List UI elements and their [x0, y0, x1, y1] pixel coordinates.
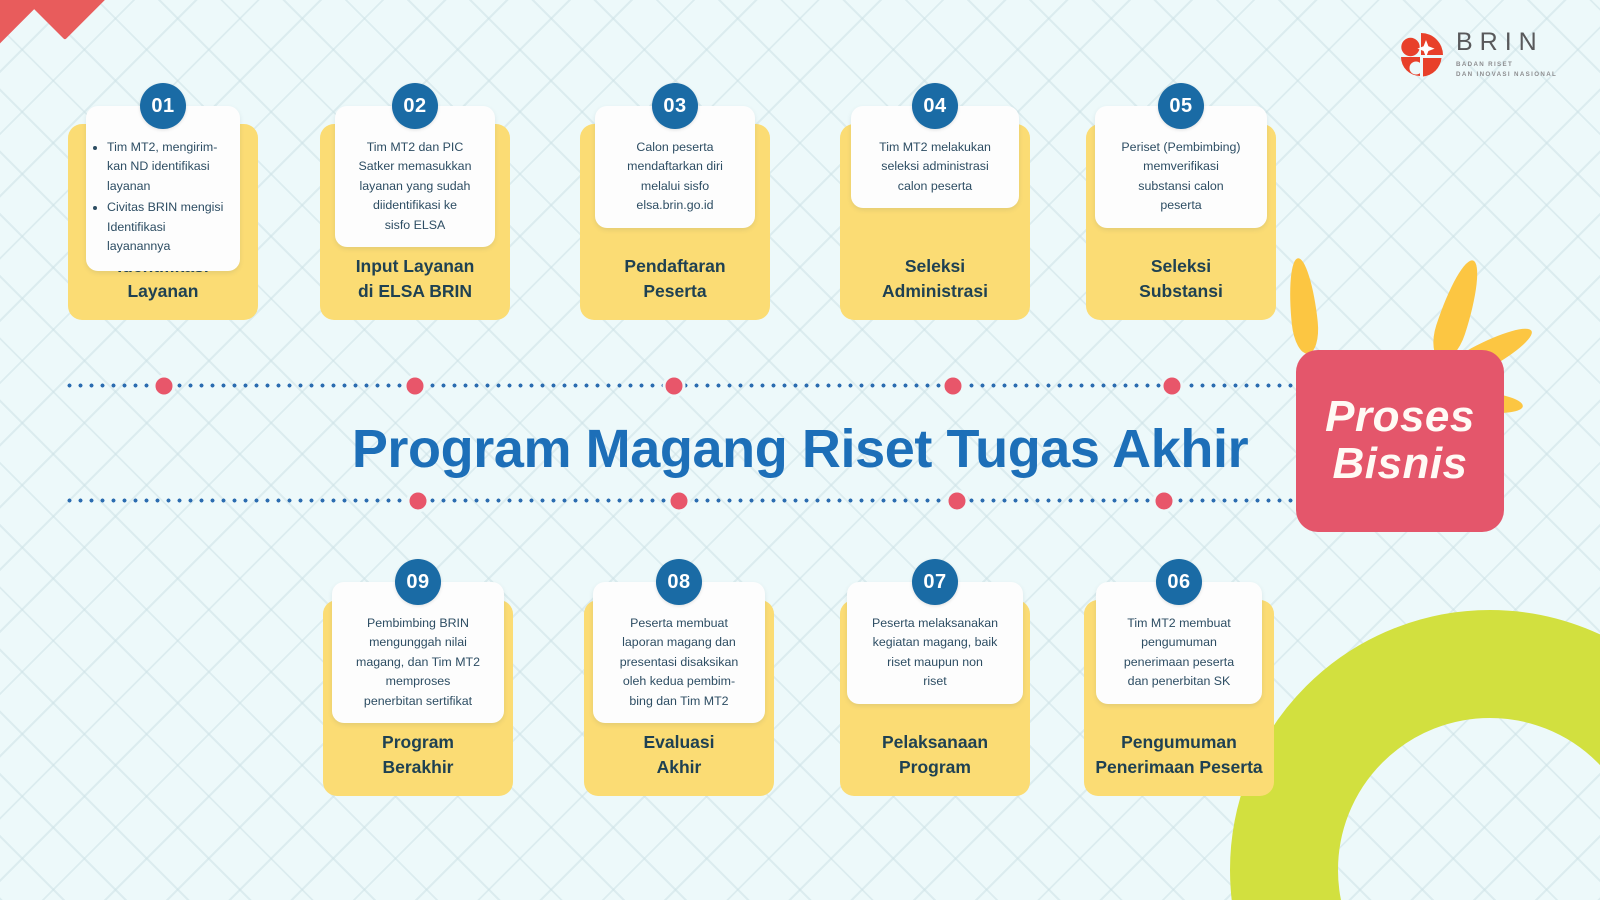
timeline-dot-07: [946, 490, 969, 513]
step-card-04[interactable]: Seleksi Administrasi Tim MT2 melakukan s…: [840, 84, 1030, 320]
step-card-04-label: Seleksi Administrasi: [882, 254, 988, 304]
brin-logo: BRIN BADAN RISET DAN INOVASI NASIONAL: [1398, 30, 1557, 79]
infographic-canvas: BRIN BADAN RISET DAN INOVASI NASIONAL Id…: [0, 0, 1600, 900]
diagonal-stripe-4: [22, 0, 254, 40]
step-card-09-label: Program Berakhir: [382, 730, 454, 780]
list-item: Civitas BRIN mengisi Identifikasi layana…: [107, 198, 230, 256]
step-card-06-label: Pengumuman Penerimaan Peserta: [1095, 730, 1262, 780]
step-card-07-label: Pelaksanaan Program: [882, 730, 988, 780]
step-card-05-body: Periset (Pembimbing) memverifikasi subst…: [1095, 106, 1267, 228]
step-card-02-body: Tim MT2 dan PIC Satker memasukkan layana…: [335, 106, 495, 247]
step-card-09-text: Pembimbing BRIN mengunggah nilai magang,…: [336, 614, 500, 711]
step-card-08-text: Peserta membuat laporan magang dan prese…: [597, 614, 761, 711]
step-card-03[interactable]: Pendaftaran Peserta Calon peserta mendaf…: [580, 84, 770, 320]
step-card-04-body: Tim MT2 melakukan seleksi administrasi c…: [851, 106, 1019, 208]
brin-logo-mark: [1398, 32, 1444, 78]
brin-logo-name: BRIN: [1456, 30, 1557, 55]
timeline-dot-09: [407, 490, 430, 513]
step-card-04-number: 04: [912, 83, 958, 129]
step-card-08-label: Evaluasi Akhir: [643, 730, 714, 780]
step-card-06-text: Tim MT2 membuat pengumuman penerimaan pe…: [1102, 614, 1256, 692]
timeline-dot-05: [1161, 375, 1184, 398]
step-card-05-label: Seleksi Substansi: [1139, 254, 1223, 304]
step-card-06-number: 06: [1156, 559, 1202, 605]
splash-shape-4: [1285, 257, 1321, 355]
step-card-01-number: 01: [140, 83, 186, 129]
step-card-05-text: Periset (Pembimbing) memverifikasi subst…: [1099, 138, 1263, 216]
step-card-02[interactable]: Input Layanan di ELSA BRIN Tim MT2 dan P…: [320, 84, 510, 320]
step-card-07-number: 07: [912, 559, 958, 605]
proses-bisnis-badge: Proses Bisnis: [1296, 350, 1514, 536]
step-card-06-body: Tim MT2 membuat pengumuman penerimaan pe…: [1096, 582, 1262, 704]
list-item: Tim MT2, mengirim- kan ND identifikasi l…: [107, 138, 230, 196]
timeline-dot-03: [663, 375, 686, 398]
brin-logo-text: BRIN BADAN RISET DAN INOVASI NASIONAL: [1456, 30, 1557, 79]
step-card-03-text: Calon peserta mendaftarkan diri melalui …: [603, 138, 747, 216]
brin-logo-subtitle: BADAN RISET DAN INOVASI NASIONAL: [1456, 60, 1557, 79]
proses-bisnis-line2: Bisnis: [1332, 442, 1467, 487]
step-card-09-body: Pembimbing BRIN mengunggah nilai magang,…: [332, 582, 504, 723]
step-card-07-text: Peserta melaksanakan kegiatan magang, ba…: [849, 614, 1021, 692]
step-card-02-text: Tim MT2 dan PIC Satker memasukkan layana…: [343, 138, 487, 235]
timeline-dot-08: [668, 490, 691, 513]
step-card-07[interactable]: Pelaksanaan Program Peserta melaksanakan…: [840, 560, 1030, 796]
step-card-01-list: Tim MT2, mengirim- kan ND identifikasi l…: [92, 138, 230, 257]
timeline-dot-06: [1153, 490, 1176, 513]
step-card-09-number: 09: [395, 559, 441, 605]
step-card-03-label: Pendaftaran Peserta: [624, 254, 725, 304]
timeline-dot-04: [942, 375, 965, 398]
proses-bisnis-line1: Proses: [1325, 395, 1475, 440]
timeline-dot-02: [404, 375, 427, 398]
step-card-05-number: 05: [1158, 83, 1204, 129]
step-card-03-number: 03: [652, 83, 698, 129]
proses-bisnis-box: Proses Bisnis: [1296, 350, 1504, 532]
step-card-01-body: Tim MT2, mengirim- kan ND identifikasi l…: [86, 106, 240, 271]
step-card-07-body: Peserta melaksanakan kegiatan magang, ba…: [847, 582, 1023, 704]
lime-arc-decoration: [1230, 610, 1600, 900]
step-card-01[interactable]: Identifikasi Layanan Tim MT2, mengirim- …: [68, 84, 258, 320]
step-card-04-text: Tim MT2 melakukan seleksi administrasi c…: [857, 138, 1013, 196]
step-card-08-body: Peserta membuat laporan magang dan prese…: [593, 582, 765, 723]
step-card-08-number: 08: [656, 559, 702, 605]
step-card-03-body: Calon peserta mendaftarkan diri melalui …: [595, 106, 755, 228]
step-card-09[interactable]: Program Berakhir Pembimbing BRIN mengung…: [323, 560, 513, 796]
step-card-06[interactable]: Pengumuman Penerimaan Peserta Tim MT2 me…: [1084, 560, 1274, 796]
step-card-02-number: 02: [392, 83, 438, 129]
timeline-dot-01: [153, 375, 176, 398]
step-card-08[interactable]: Evaluasi Akhir Peserta membuat laporan m…: [584, 560, 774, 796]
step-card-05[interactable]: Seleksi Substansi Periset (Pembimbing) m…: [1086, 84, 1276, 320]
step-card-02-label: Input Layanan di ELSA BRIN: [356, 254, 475, 304]
